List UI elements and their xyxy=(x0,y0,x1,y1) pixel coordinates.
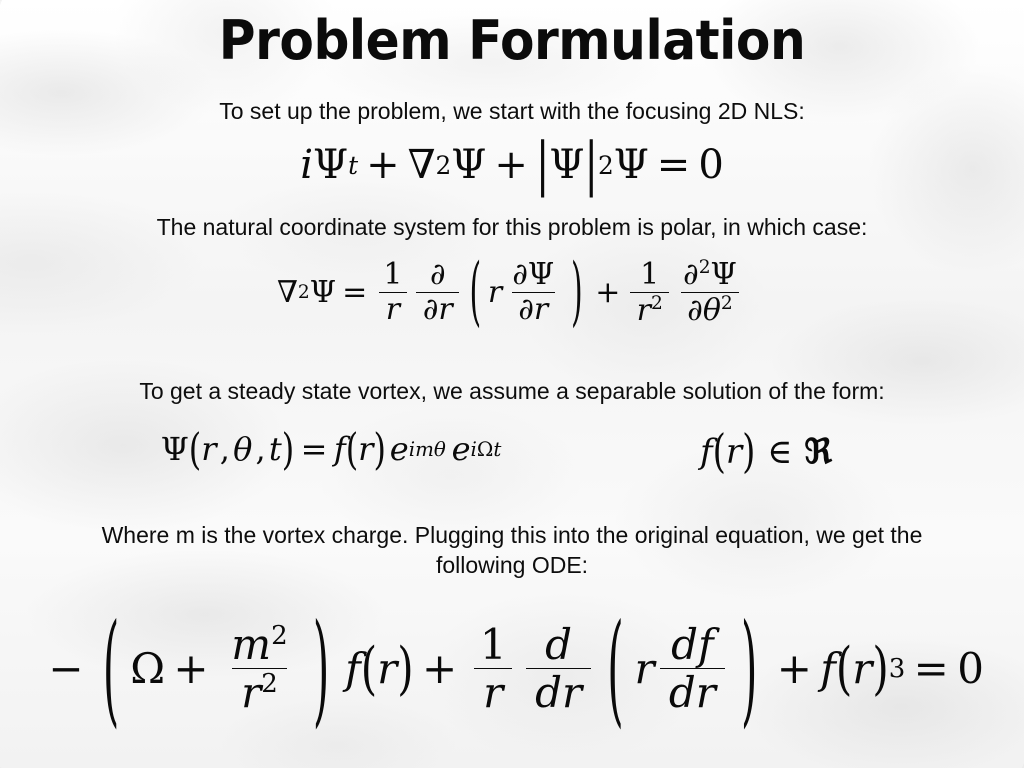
numerator-df: df xyxy=(662,622,723,668)
equation-f-real: f ( r ) ∈ ℜ xyxy=(616,432,916,472)
denominator-dr: dr xyxy=(526,668,591,715)
symbol-e-1: e xyxy=(390,430,409,468)
fraction-d-by-dr: d dr xyxy=(526,622,591,716)
equation-vortex-ode: − ( Ω + m2 r2 ) f ( r ) + 1 r d dr ( r d… xyxy=(0,622,1024,716)
paren-left: ( xyxy=(189,423,201,474)
symbol-psi: Ψ xyxy=(161,430,189,468)
numerator-partial-psi: ∂Ψ xyxy=(506,259,561,292)
symbol-psi: Ψ xyxy=(313,142,348,188)
function-f: f xyxy=(334,430,346,468)
arg-r: r xyxy=(201,430,216,468)
paren-left-1: ( xyxy=(103,598,119,740)
paren-right: ) xyxy=(571,249,583,337)
fraction-df-by-dr: df dr xyxy=(660,622,725,716)
operator-equals: = xyxy=(342,275,367,310)
abs-bar-right: | xyxy=(584,132,597,199)
numerator-d: d xyxy=(536,622,581,668)
paren-left-2: ( xyxy=(361,636,377,702)
fraction-d2psi-by-dtheta2: ∂2Ψ ∂θ2 xyxy=(677,258,744,328)
operator-plus-3: + xyxy=(777,644,812,693)
body-text-line-4: Where m is the vortex charge. Plugging t… xyxy=(0,520,1024,580)
exponent-2b: 2 xyxy=(598,151,614,180)
paren-left: ( xyxy=(713,425,726,479)
symbol-psi-4: Ψ xyxy=(614,142,649,188)
denominator-r-squared: r2 xyxy=(232,668,287,715)
symbol-psi-2: Ψ xyxy=(451,142,486,188)
operator-equals: = xyxy=(914,644,949,693)
exponent-i-omega-t: iΩt xyxy=(471,438,502,461)
paren-right-3: ) xyxy=(741,598,757,740)
paren-right-2: ) xyxy=(397,636,413,702)
function-f-2: f xyxy=(820,644,836,693)
fraction-one-over-r-squared: 1 r2 xyxy=(630,259,669,328)
body-text-line-2: The natural coordinate system for this p… xyxy=(0,212,1024,242)
numerator-one: 1 xyxy=(471,622,516,668)
operator-plus-2: + xyxy=(422,644,457,693)
body-text-line-1: To set up the problem, we start with the… xyxy=(0,96,1024,126)
fraction-one-over-r: 1 r xyxy=(471,622,516,716)
abs-bar-left: | xyxy=(536,132,549,199)
arg-r: r xyxy=(377,644,397,693)
symbol-fraktur-r: ℜ xyxy=(804,432,832,472)
paren-right-2: ) xyxy=(373,423,385,474)
exponent-3: 3 xyxy=(889,654,906,684)
numerator-m-squared: m2 xyxy=(222,622,297,668)
arg-r-2: r xyxy=(358,430,373,468)
symbol-nabla: ∇ xyxy=(277,275,298,310)
exponent-2: 2 xyxy=(298,282,310,303)
numerator-one: 1 xyxy=(377,259,409,292)
exponent-im-theta: imθ xyxy=(409,438,446,461)
symbol-r: r xyxy=(635,644,655,693)
denominator-r: r xyxy=(474,668,513,715)
equation-nls: i Ψt + ∇2 Ψ + | Ψ |2 Ψ = 0 xyxy=(0,142,1024,188)
denominator-r-squared: r2 xyxy=(630,292,669,327)
function-f: f xyxy=(345,644,361,693)
symbol-omega: Ω xyxy=(130,644,165,693)
arg-r: r xyxy=(726,432,742,472)
symbol-nabla: ∇ xyxy=(408,142,436,188)
exponent-2a: 2 xyxy=(436,151,452,180)
fraction-m2-over-r2: m2 r2 xyxy=(222,622,297,716)
slide-content: Problem Formulation To set up the proble… xyxy=(0,0,1024,768)
operator-equals: = xyxy=(301,430,328,468)
function-f: f xyxy=(700,432,713,472)
denominator-r: r xyxy=(379,292,407,326)
operator-plus-1: + xyxy=(366,142,400,188)
paren-right: ) xyxy=(742,425,755,479)
operator-plus-1: + xyxy=(173,644,208,693)
numerator-partial2-psi: ∂2Ψ xyxy=(677,258,744,292)
paren-left-4: ( xyxy=(836,636,852,702)
denominator-dr: dr xyxy=(660,668,725,715)
denominator-partial-r: ∂r xyxy=(416,292,459,326)
fraction-d-by-dr: ∂ ∂r xyxy=(416,259,459,327)
denominator-partial-theta2: ∂θ2 xyxy=(681,292,740,327)
numerator-partial: ∂ xyxy=(423,259,452,292)
symbol-psi-3: Ψ xyxy=(549,142,584,188)
paren-right: ) xyxy=(282,423,294,474)
operator-plus: + xyxy=(595,275,620,310)
denominator-partial-r: ∂r xyxy=(512,292,555,326)
symbol-e-2: e xyxy=(452,430,471,468)
arg-theta: θ xyxy=(233,430,252,468)
operator-equals: = xyxy=(657,142,691,188)
operator-plus-2: + xyxy=(494,142,528,188)
equation-separable-ansatz: Ψ ( r , θ , t ) = f ( r ) eimθ eiΩt xyxy=(96,430,566,468)
operator-minus: − xyxy=(48,644,83,693)
fraction-one-over-r: 1 r xyxy=(377,259,409,327)
paren-left-3: ( xyxy=(607,598,623,740)
number-zero: 0 xyxy=(698,142,723,188)
symbol-psi: Ψ xyxy=(310,275,336,310)
page-title: Problem Formulation xyxy=(36,8,988,74)
fraction-dpsi-by-dr: ∂Ψ ∂r xyxy=(506,259,561,327)
number-zero: 0 xyxy=(957,644,984,693)
comma-2: , xyxy=(256,430,266,468)
paren-left: ( xyxy=(470,249,482,337)
paren-right-4: ) xyxy=(872,636,888,702)
body-text-line-3: To get a steady state vortex, we assume … xyxy=(0,376,1024,406)
paren-left-2: ( xyxy=(346,423,358,474)
arg-t: t xyxy=(269,430,282,468)
equation-polar-laplacian: ∇2 Ψ = 1 r ∂ ∂r ( r ∂Ψ ∂r ) + 1 r2 ∂2Ψ ∂… xyxy=(0,258,1024,328)
subscript-t: t xyxy=(348,151,358,180)
operator-element-of: ∈ xyxy=(767,432,792,472)
symbol-i: i xyxy=(300,142,313,188)
paren-right-1: ) xyxy=(313,598,329,740)
comma-1: , xyxy=(220,430,230,468)
numerator-one: 1 xyxy=(634,259,666,292)
arg-r-2: r xyxy=(852,644,872,693)
symbol-r: r xyxy=(488,275,502,310)
